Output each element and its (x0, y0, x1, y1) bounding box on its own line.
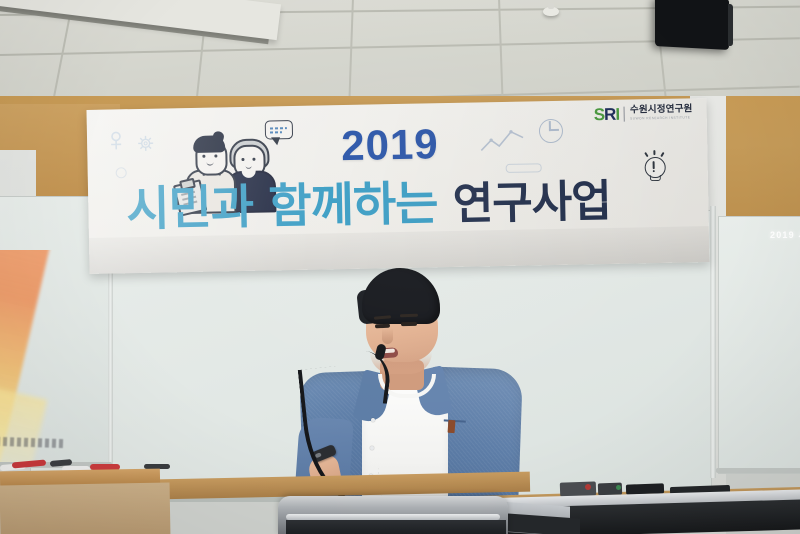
sri-logo-mark: SRI (594, 106, 620, 123)
sri-logo-divider (624, 107, 625, 122)
ceiling-speaker (655, 0, 729, 50)
woman-eye (241, 158, 244, 161)
ceiling-bulkhead (0, 0, 281, 40)
projected-slide-left (0, 250, 112, 465)
lightbulb-ray (660, 152, 664, 157)
pie-chart-icon (539, 119, 563, 143)
whiteboard-right (718, 216, 800, 474)
progress-bar-icon (506, 163, 542, 173)
speech-bubble-icon (265, 120, 293, 140)
banner-headline-navy: 연구사업 (452, 176, 611, 230)
sri-logo-korean-name: 수원시정연구원 (630, 104, 693, 115)
av-equipment (560, 481, 596, 496)
banner-headline: 시민과 함께하는 연구사업 (126, 174, 687, 234)
speech-bubble-line (270, 131, 282, 133)
whiteboard-marker (12, 460, 46, 469)
gear-icon (137, 135, 154, 152)
equipment-indicator-green (616, 485, 621, 490)
left-desk-front (0, 483, 170, 534)
sri-logo-subtext: SUWON RESEARCH INSTITUTE (630, 115, 693, 120)
projected-year-text: 2019 시 (770, 228, 800, 241)
sri-logo-text-block: 수원시정연구원 SUWON RESEARCH INSTITUTE (630, 104, 693, 120)
shirt-brand-patch (448, 420, 456, 433)
equipment-indicator-red (585, 484, 591, 490)
line-graph-icon (479, 127, 532, 156)
eye (401, 322, 417, 326)
man-hair (193, 135, 225, 153)
event-banner: SRI 수원시정연구원 SUWON RESEARCH INSTITUTE (86, 98, 709, 274)
banner-headline-cyan: 시민과 함께하는 (126, 176, 438, 237)
nose (382, 328, 393, 344)
lightbulb-ray (644, 152, 648, 157)
smoke-detector-icon (543, 7, 559, 16)
podium-front (286, 520, 506, 534)
person-icon (109, 131, 123, 151)
projection-streak (0, 382, 47, 465)
lightbulb-ray (653, 150, 655, 155)
circle-dot-icon (116, 167, 127, 178)
photo-scene: 2019 시 SRI 수원시정연구원 SUWON RESEARCH INSTIT… (0, 0, 800, 534)
banner-year: 2019 (341, 123, 439, 167)
sri-logo: SRI 수원시정연구원 SUWON RESEARCH INSTITUTE (594, 104, 693, 123)
sri-logo-letter-r: R (604, 105, 616, 124)
woman-eye (252, 158, 255, 161)
man-eye (202, 155, 205, 158)
whiteboard-divider (710, 206, 716, 478)
exclamation-stroke (652, 161, 654, 169)
whiteboard-tray-right (716, 468, 800, 473)
man-eye (214, 154, 217, 157)
speech-bubble-line (270, 127, 287, 129)
sri-logo-letter-i: I (615, 105, 619, 124)
